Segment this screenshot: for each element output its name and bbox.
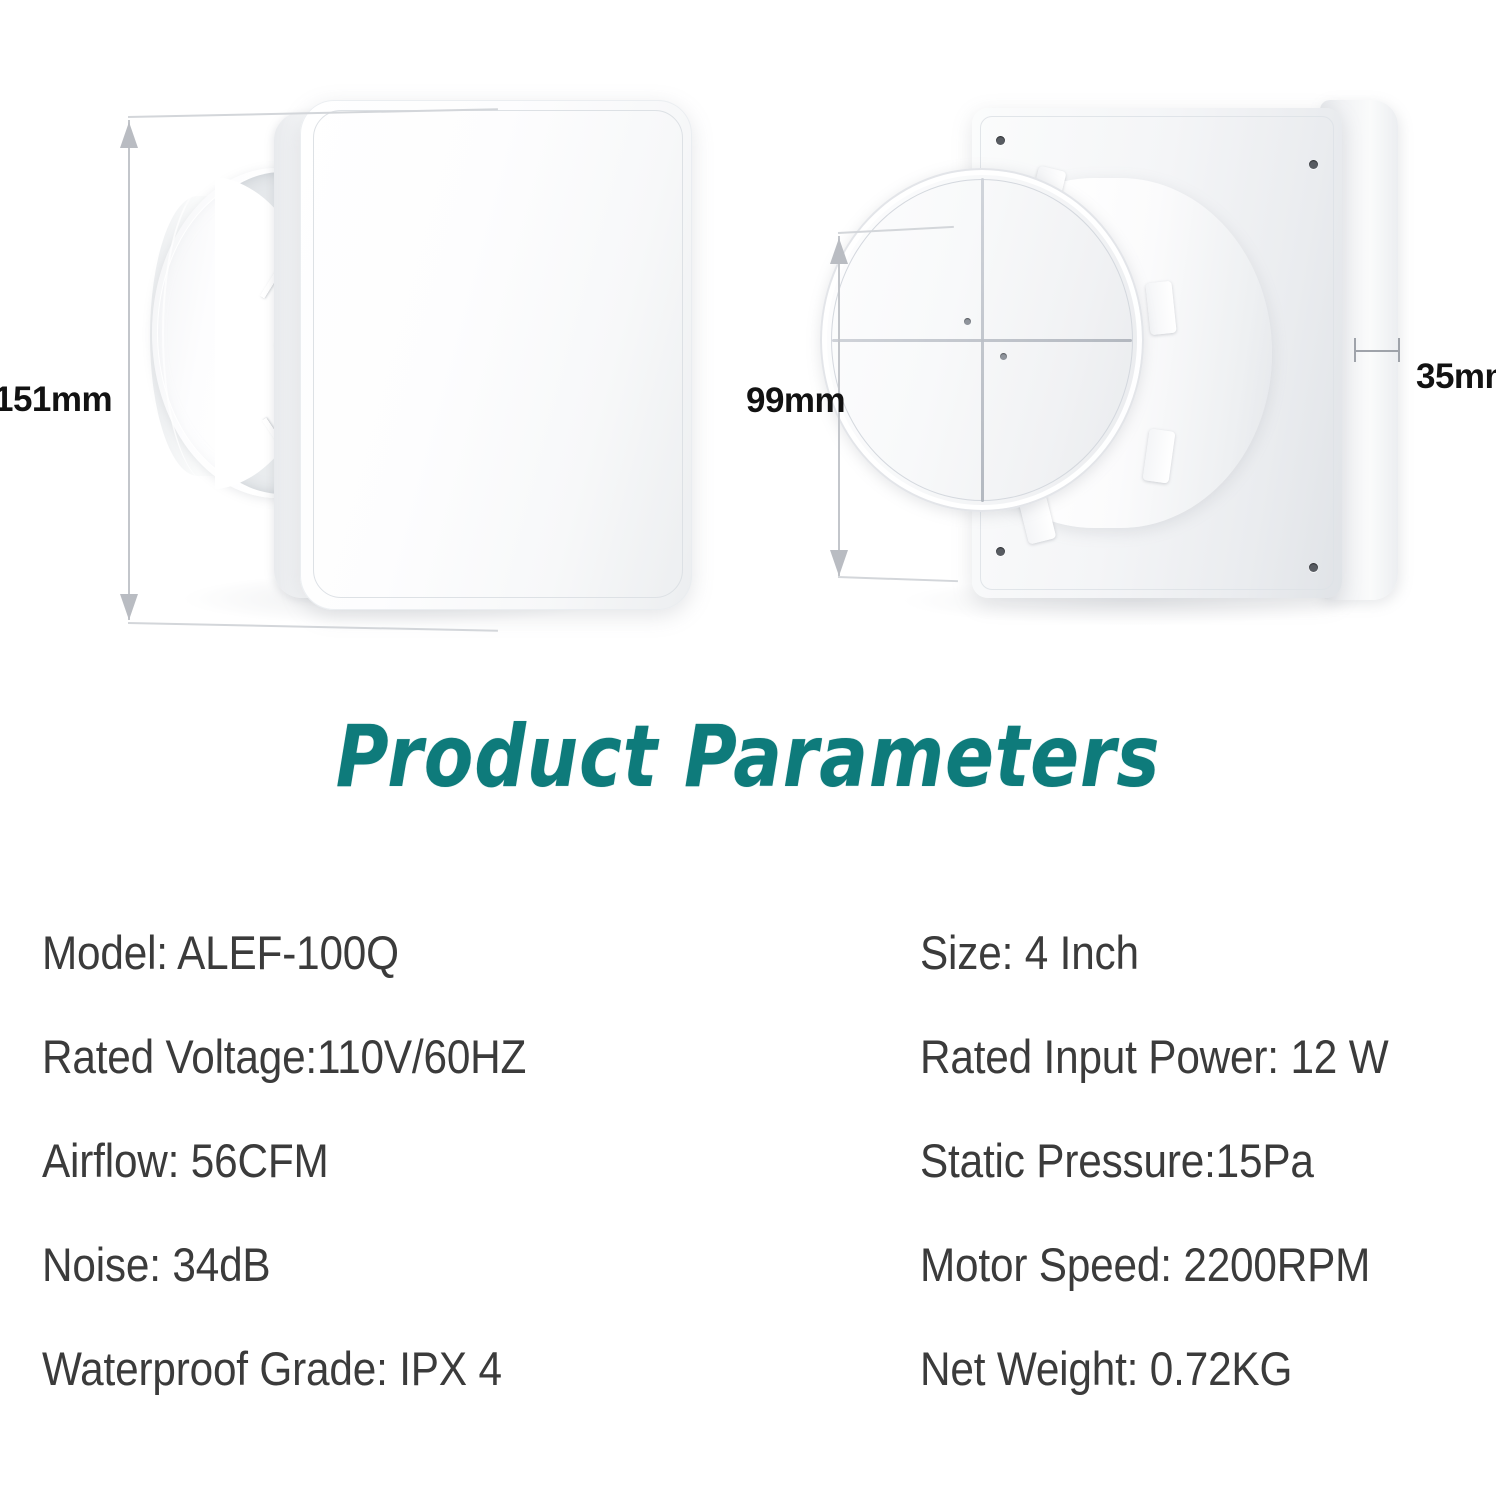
dim-ext-bottom-99 xyxy=(838,576,958,582)
duct-fin-upper-right xyxy=(1145,281,1176,335)
spec-row-noise: Noise: 34dB xyxy=(42,1212,816,1316)
shutter-pivot-pin-upper xyxy=(964,318,971,325)
spec-row-waterproof-grade: Waterproof Grade: IPX 4 xyxy=(42,1316,816,1420)
screw-hole-top-right xyxy=(1309,160,1318,169)
spec-column-right: Size: 4 Inch Rated Input Power: 12 W Sta… xyxy=(920,900,1480,1420)
dim-arrowhead-top-99 xyxy=(830,238,848,264)
spec-row-size: Size: 4 Inch xyxy=(920,900,1424,1004)
dim-tick-left-35 xyxy=(1354,338,1356,362)
product-photo-area: 151mm xyxy=(0,0,1496,690)
product-image-rear-view: 99mm 35mm xyxy=(760,0,1496,690)
dimension-label-diameter: 99mm xyxy=(746,381,845,421)
spec-row-rated-voltage: Rated Voltage:110V/60HZ xyxy=(42,1004,816,1108)
spec-row-motor-speed: Motor Speed: 2200RPM xyxy=(920,1212,1424,1316)
dim-line-35 xyxy=(1354,350,1400,352)
dim-arrowhead-bottom-99 xyxy=(830,550,848,576)
spec-row-static-pressure: Static Pressure:15Pa xyxy=(920,1108,1424,1212)
spec-column-left: Model: ALEF-100Q Rated Voltage:110V/60HZ… xyxy=(42,900,902,1420)
dim-arrowhead-top-151 xyxy=(120,122,138,148)
spec-row-net-weight: Net Weight: 0.72KG xyxy=(920,1316,1424,1420)
dim-line-151 xyxy=(128,120,130,620)
dimension-label-depth: 35mm xyxy=(1416,357,1496,397)
faceplate-panel xyxy=(300,100,692,610)
spec-row-airflow: Airflow: 56CFM xyxy=(42,1108,816,1212)
shutter-pivot-pin-lower xyxy=(1000,353,1007,360)
screw-hole-bottom-right xyxy=(1309,563,1318,572)
screw-hole-top-left xyxy=(996,136,1005,145)
backdraft-shutter xyxy=(820,168,1144,512)
product-parameters-page: 151mm xyxy=(0,0,1496,1496)
page-title: Product Parameters xyxy=(120,714,1377,800)
screw-hole-bottom-left xyxy=(996,547,1005,556)
shutter-divider-horizontal xyxy=(832,339,1132,342)
dim-arrowhead-bottom-151 xyxy=(120,594,138,620)
spec-row-model: Model: ALEF-100Q xyxy=(42,900,816,1004)
product-image-front-view: 151mm xyxy=(0,0,760,690)
dimension-label-height: 151mm xyxy=(0,380,112,420)
specification-table: Model: ALEF-100Q Rated Voltage:110V/60HZ… xyxy=(0,900,1496,1420)
spec-row-rated-input-power: Rated Input Power: 12 W xyxy=(920,1004,1424,1108)
dim-tick-right-35 xyxy=(1398,338,1400,362)
